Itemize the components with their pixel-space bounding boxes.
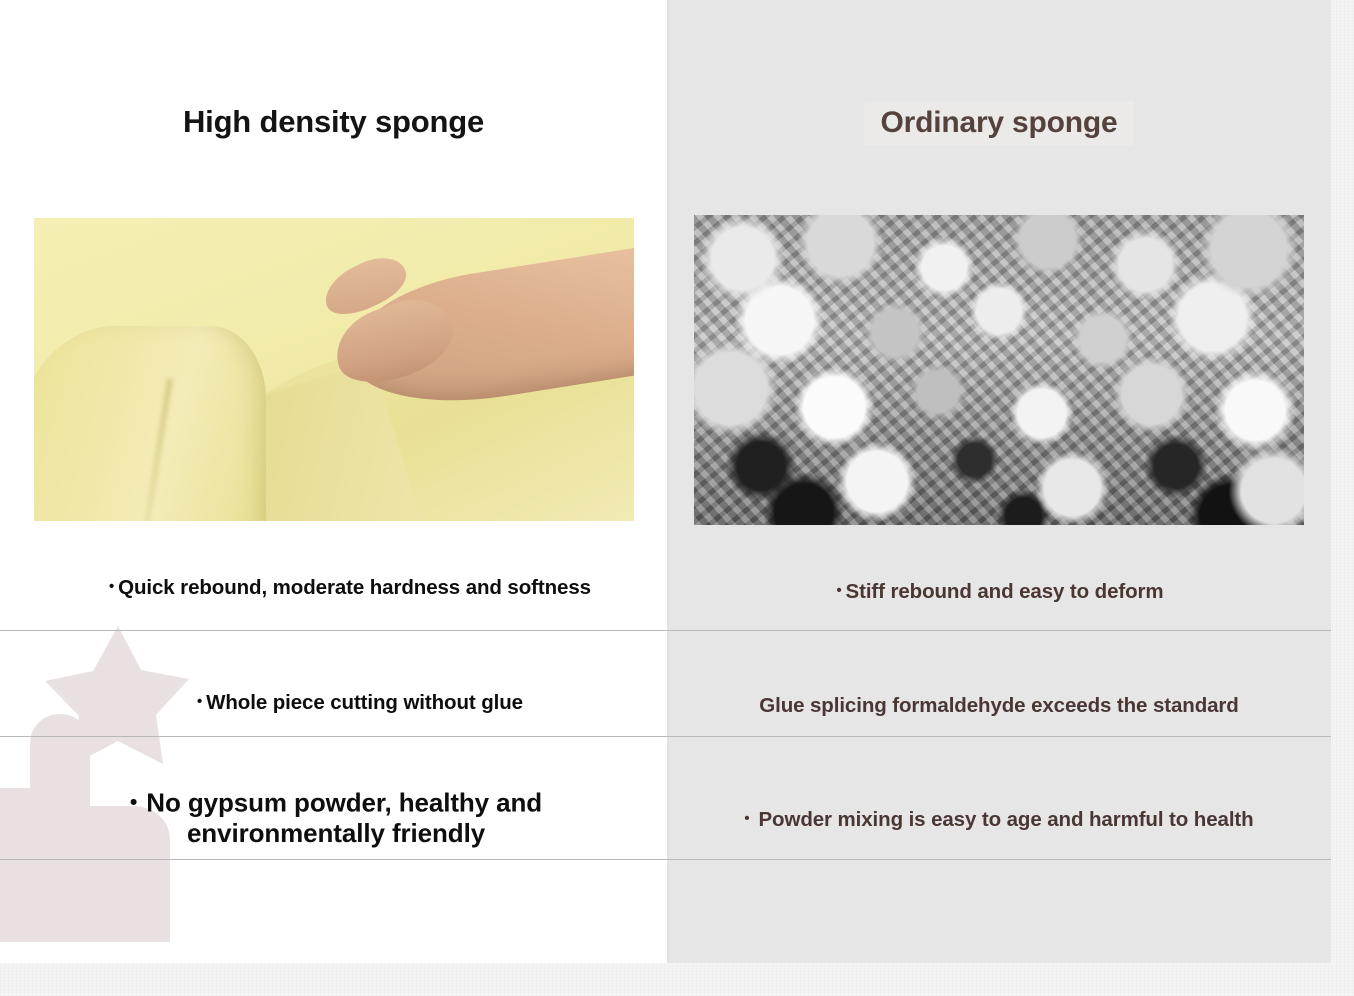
yellow-foam-photo	[34, 218, 634, 521]
feature-right-2: Glue splicing formaldehyde exceeds the s…	[694, 694, 1304, 718]
feature-left-3-line1: No gypsum powder, healthy and	[146, 788, 542, 818]
feature-right-3: •Powder mixing is easy to age and harmfu…	[694, 808, 1304, 832]
page-title-ordinary-sponge: Ordinary sponge	[667, 106, 1331, 140]
bullet-icon: •	[130, 787, 137, 817]
feature-right-1: •Stiff rebound and easy to deform	[700, 580, 1300, 604]
feature-left-3-line2: environmentally friendly	[187, 818, 485, 848]
page-title-high-density-sponge: High density sponge	[0, 104, 667, 140]
comparison-page: High density sponge Ordinary sponge •Qui…	[0, 0, 1354, 996]
feature-right-1-label: Stiff rebound and easy to deform	[846, 580, 1164, 603]
feature-left-2-label: Whole piece cutting without glue	[206, 691, 523, 714]
feature-right-3-label: Powder mixing is easy to age and harmful…	[758, 808, 1253, 831]
feature-left-2: •Whole piece cutting without glue	[100, 691, 620, 715]
bullet-icon: •	[744, 811, 749, 827]
bullet-icon: •	[109, 579, 114, 595]
feature-left-1: •Quick rebound, moderate hardness and so…	[60, 576, 640, 600]
bullet-icon: •	[836, 583, 841, 599]
ordinary-sponge-title-text: Ordinary sponge	[864, 101, 1133, 146]
row-divider-1	[0, 630, 1331, 631]
row-divider-2	[0, 736, 1331, 737]
feature-left-1-label: Quick rebound, moderate hardness and sof…	[118, 576, 591, 599]
bullet-icon: •	[197, 694, 202, 710]
row-divider-3	[0, 859, 1331, 860]
gray-foam-chips-photo	[694, 215, 1304, 525]
feature-left-3: •No gypsum powder, healthy andenvironmen…	[56, 787, 616, 848]
feature-right-2-label: Glue splicing formaldehyde exceeds the s…	[759, 694, 1238, 717]
